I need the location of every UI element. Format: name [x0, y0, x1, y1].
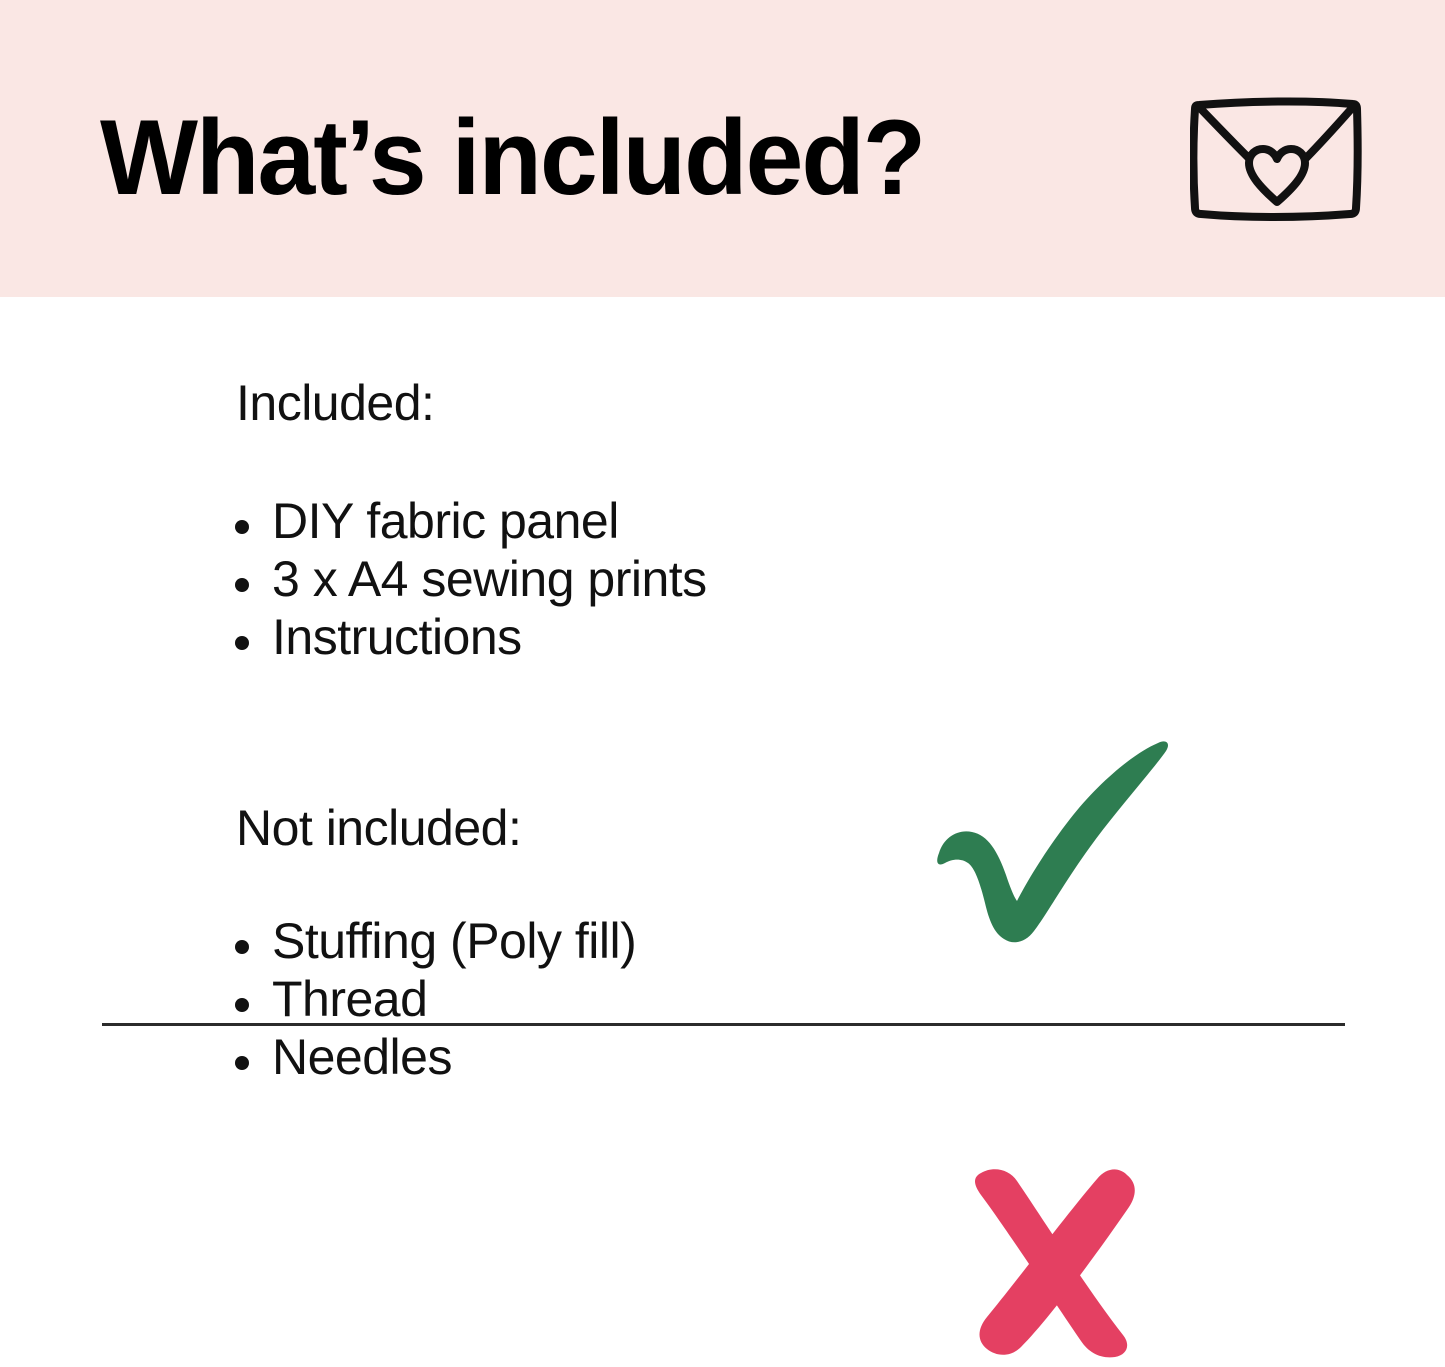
included-list: DIY fabric panel 3 x A4 sewing prints In…	[230, 492, 707, 666]
not-included-list: Stuffing (Poly fill) Thread Needles	[230, 912, 636, 1086]
list-item: 3 x A4 sewing prints	[230, 550, 707, 608]
list-item: DIY fabric panel	[230, 492, 707, 550]
page-title: What’s included?	[100, 101, 924, 213]
infographic-page: What’s included? Included: DIY fabric pa…	[0, 0, 1445, 1155]
section-heading-included: Included:	[236, 375, 434, 431]
list-item: Stuffing (Poly fill)	[230, 912, 636, 970]
content-area: Included: DIY fabric panel 3 x A4 sewing…	[0, 297, 1445, 1155]
cross-mark-icon	[955, 1157, 1155, 1362]
section-included: Included: DIY fabric panel 3 x A4 sewing…	[0, 297, 1445, 727]
list-item: Needles	[230, 1028, 636, 1086]
section-heading-not-included: Not included:	[236, 800, 521, 856]
list-item: Thread	[230, 970, 636, 1028]
section-not-included: Not included: Stuffing (Poly fill) Threa…	[0, 730, 1445, 1155]
header-band: What’s included?	[0, 0, 1445, 297]
envelope-heart-icon	[1190, 94, 1362, 222]
list-item: Instructions	[230, 608, 707, 666]
